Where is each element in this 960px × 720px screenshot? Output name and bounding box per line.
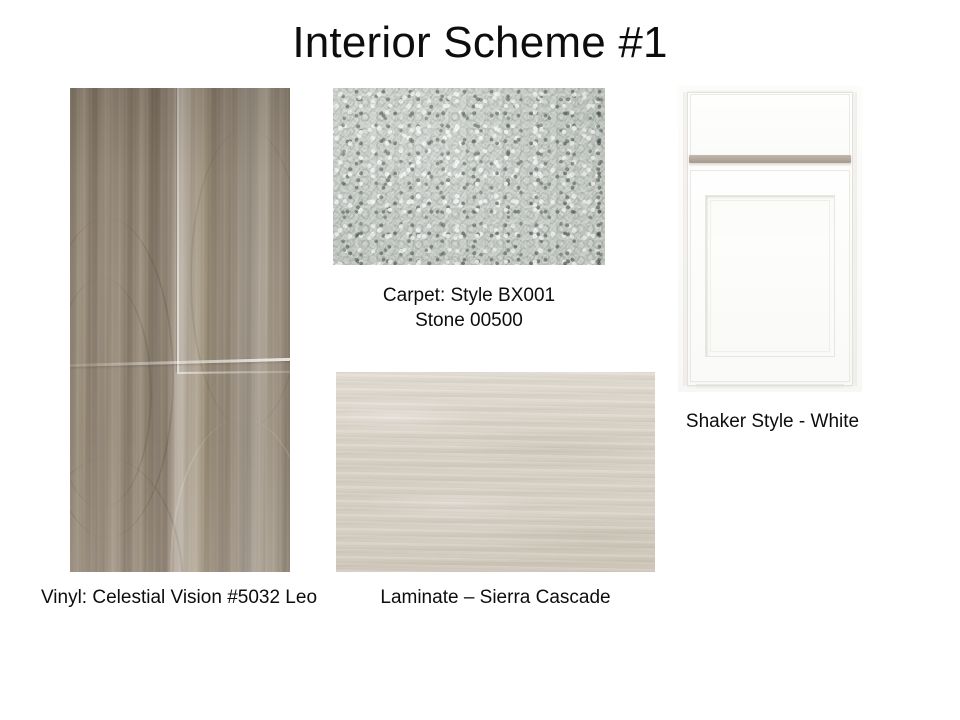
cabinet-reveal-bar	[689, 155, 851, 163]
cabinet-panel-inner-bevel	[710, 200, 830, 352]
cabinet-edge-left	[683, 92, 687, 386]
cabinet-reveal-bar-shadow	[689, 163, 851, 167]
laminate-shading	[336, 372, 655, 572]
cabinet-edge-right	[853, 92, 857, 386]
cabinet-door-swatch-image	[678, 86, 862, 392]
carpet-shading	[333, 88, 605, 265]
carpet-caption: Carpet: Style BX001 Stone 00500	[333, 283, 605, 333]
cabinet-recessed-panel	[706, 196, 834, 356]
laminate-swatch-image	[336, 372, 655, 572]
carpet-caption-line-2: Stone 00500	[333, 308, 605, 333]
carpet-caption-line-1: Carpet: Style BX001	[333, 283, 605, 308]
vinyl-swatch-image	[70, 88, 290, 572]
page-title: Interior Scheme #1	[0, 18, 960, 69]
carpet-swatch-image	[333, 88, 605, 265]
laminate-caption: Laminate – Sierra Cascade	[336, 585, 655, 610]
cabinet-bottom-shadow	[696, 384, 844, 389]
vinyl-shading	[70, 88, 290, 572]
vinyl-caption: Vinyl: Celestial Vision #5032 Leo	[0, 585, 358, 610]
cabinet-caption: Shaker Style - White	[660, 409, 885, 434]
cabinet-drawer-front	[690, 94, 850, 156]
